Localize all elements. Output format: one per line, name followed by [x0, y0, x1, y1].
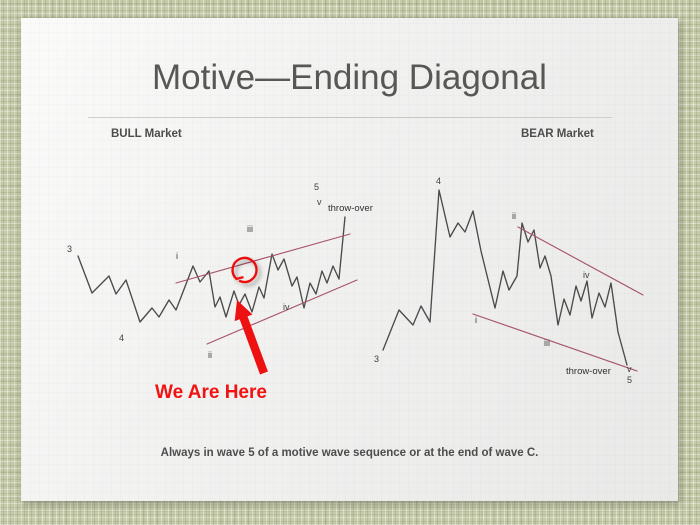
wave-label-3: 3: [67, 244, 72, 254]
throw-over-label: throw-over: [328, 203, 373, 214]
wave-label-iii: iii: [247, 224, 253, 234]
wave-label-5: 5: [314, 182, 319, 192]
wave-price-path: [383, 190, 627, 365]
wave-price-path: [78, 217, 345, 322]
wave-label-v: v: [627, 364, 632, 374]
elliott-wave-diagrams: 34iiiiiiiv5vthrow-over 43iiiiiiivthrow-o…: [21, 18, 678, 501]
wave-label-i: i: [475, 315, 477, 325]
bull-market-chart: 34iiiiiiiv5vthrow-over: [67, 182, 373, 360]
wave-label-iv: iv: [583, 270, 590, 280]
slide-card: Motive—Ending Diagonal BULL Market BEAR …: [21, 18, 678, 501]
wave-label-3: 3: [374, 354, 379, 364]
lower-trendline: [207, 280, 357, 344]
throw-over-label: throw-over: [566, 366, 611, 377]
wave-label-ii: ii: [512, 211, 516, 221]
we-are-here-label: We Are Here: [155, 382, 267, 403]
we-are-here-annotation: We Are Here: [155, 258, 268, 403]
upper-trendline: [518, 227, 643, 295]
slide-caption: Always in wave 5 of a motive wave sequen…: [21, 447, 678, 459]
wave-label-v: v: [317, 197, 322, 207]
wave-label-4: 4: [436, 176, 441, 186]
wave-label-iv: iv: [283, 302, 290, 312]
lower-trendline: [473, 314, 637, 371]
wave-label-i: i: [176, 251, 178, 261]
circle-flick: [237, 277, 243, 279]
wave-label-4: 4: [119, 333, 124, 343]
bear-market-chart: 43iiiiiiivthrow-overv5: [374, 176, 643, 385]
wave-label-iii: iii: [544, 338, 550, 348]
wave-label-5: 5: [627, 375, 632, 385]
wave-label-ii: ii: [208, 350, 212, 360]
